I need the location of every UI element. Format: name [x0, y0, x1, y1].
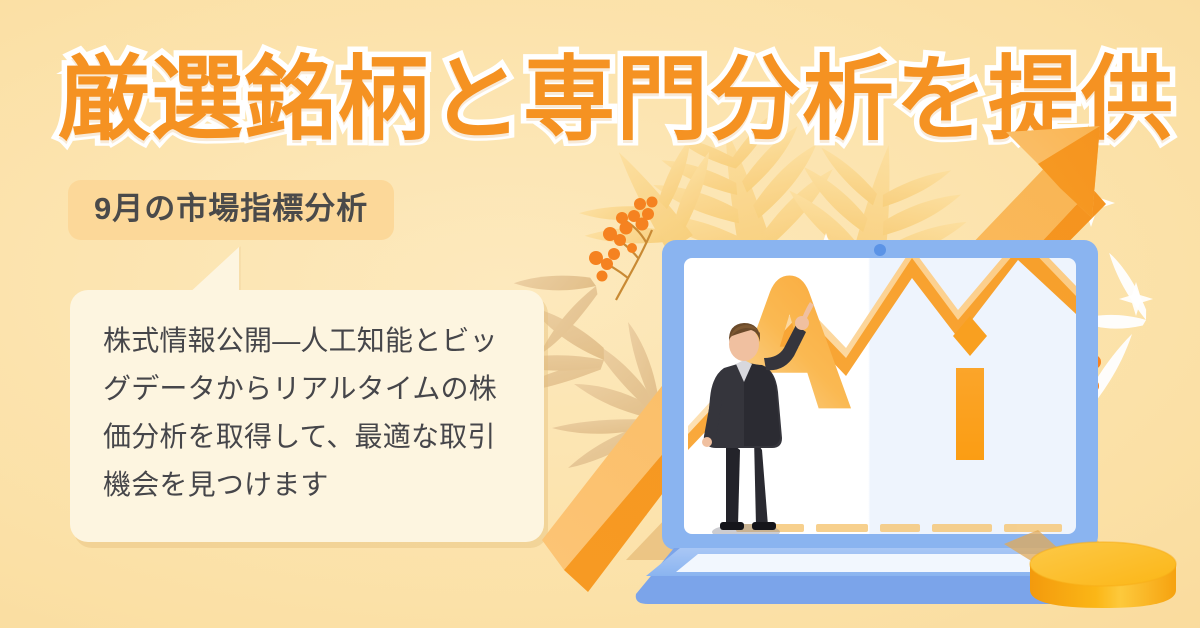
callout-text: 株式情報公開—人工知能とビッグデータからリアルタイムの株価分析を取得して、最適な…	[103, 317, 515, 509]
laptop-illustration	[540, 120, 1200, 628]
callout-tail	[187, 247, 239, 295]
subtitle-badge: 9月の市場指標分析	[68, 180, 394, 240]
promo-banner: 厳選銘柄と専門分析を提供 9月の市場指標分析 株式情報公開—人工知能とビッグデー…	[0, 0, 1200, 628]
callout-card: 株式情報公開—人工知能とビッグデータからリアルタイムの株価分析を取得して、最適な…	[70, 290, 544, 542]
keyboard-hint-strip	[736, 524, 1062, 532]
webcam-icon	[874, 244, 886, 256]
